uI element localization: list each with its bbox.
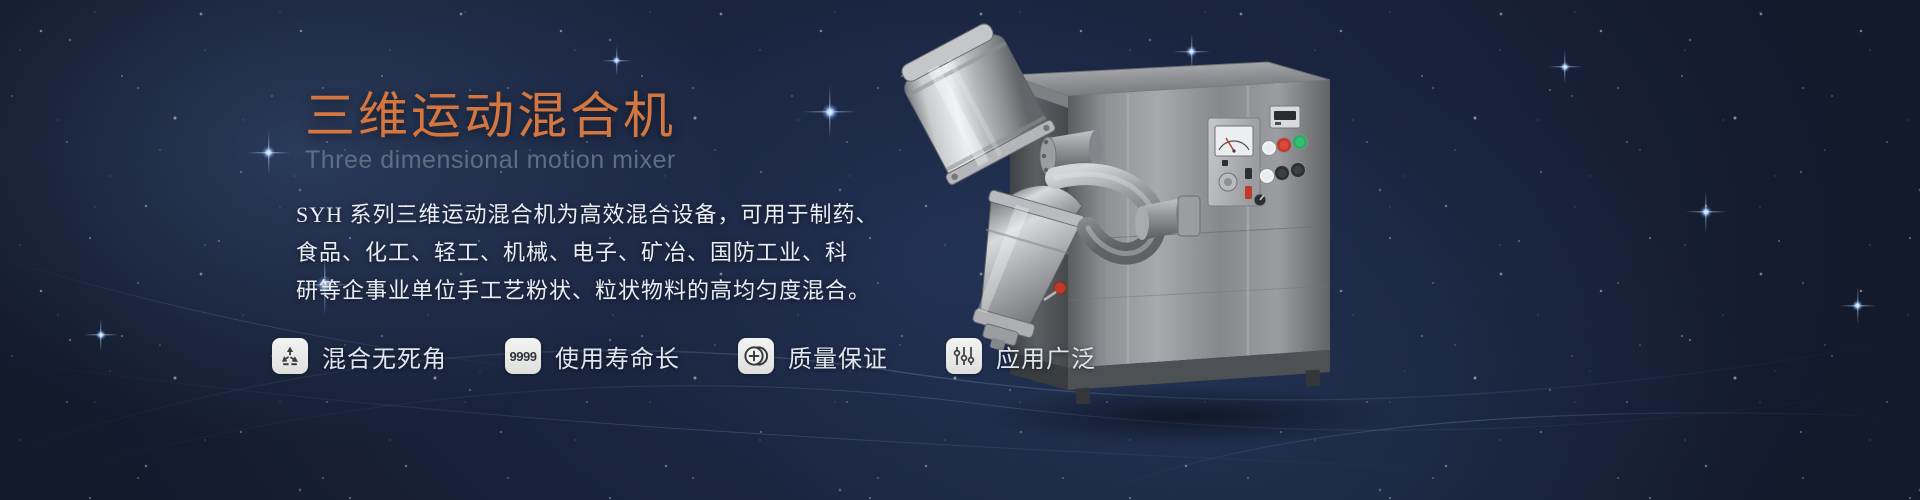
feature-label: 混合无死角 bbox=[322, 339, 447, 374]
feature-item-no-dead-angle[interactable]: 混合无死角 bbox=[272, 338, 447, 374]
lifespan-9999-text: 9999 bbox=[510, 349, 537, 364]
glow-star bbox=[612, 56, 621, 65]
product-image bbox=[860, 0, 1500, 500]
product-hero-banner: 三维运动混合机 Three dimensional motion mixer S… bbox=[0, 0, 1920, 500]
page-title: 三维运动混合机 bbox=[305, 76, 676, 148]
feature-item-long-lifespan[interactable]: 9999 使用寿命长 bbox=[505, 338, 680, 374]
glow-star bbox=[96, 330, 106, 340]
glow-star bbox=[1560, 62, 1570, 72]
feature-label: 使用寿命长 bbox=[555, 339, 680, 374]
recycle-icon bbox=[272, 338, 308, 374]
quality-seal-icon bbox=[738, 338, 774, 374]
description-line-1: SYH 系列三维运动混合机为高效混合设备，可用于制药、 bbox=[296, 196, 816, 234]
feature-item-wide-application[interactable]: 应用广泛 bbox=[946, 338, 1096, 374]
glow-star bbox=[1700, 206, 1712, 218]
sliders-icon bbox=[946, 338, 982, 374]
description-line-3: 研等企事业单位手工艺粉状、粒状物料的高均匀度混合。 bbox=[296, 272, 816, 310]
glow-star bbox=[262, 146, 275, 159]
feature-label: 应用广泛 bbox=[996, 339, 1096, 374]
page-subtitle: Three dimensional motion mixer bbox=[305, 146, 676, 175]
glow-star bbox=[1852, 300, 1863, 311]
feature-label: 质量保证 bbox=[788, 339, 888, 374]
glow-star bbox=[822, 104, 838, 120]
product-description: SYH 系列三维运动混合机为高效混合设备，可用于制药、 食品、化工、轻工、机械、… bbox=[296, 196, 816, 310]
feature-item-quality-guarantee[interactable]: 质量保证 bbox=[738, 338, 888, 374]
description-line-2: 食品、化工、轻工、机械、电子、矿冶、国防工业、科 bbox=[296, 234, 816, 272]
lifespan-9999-icon: 9999 bbox=[505, 338, 541, 374]
feature-list: 混合无死角 9999 使用寿命长 质量保证 bbox=[272, 338, 1096, 374]
